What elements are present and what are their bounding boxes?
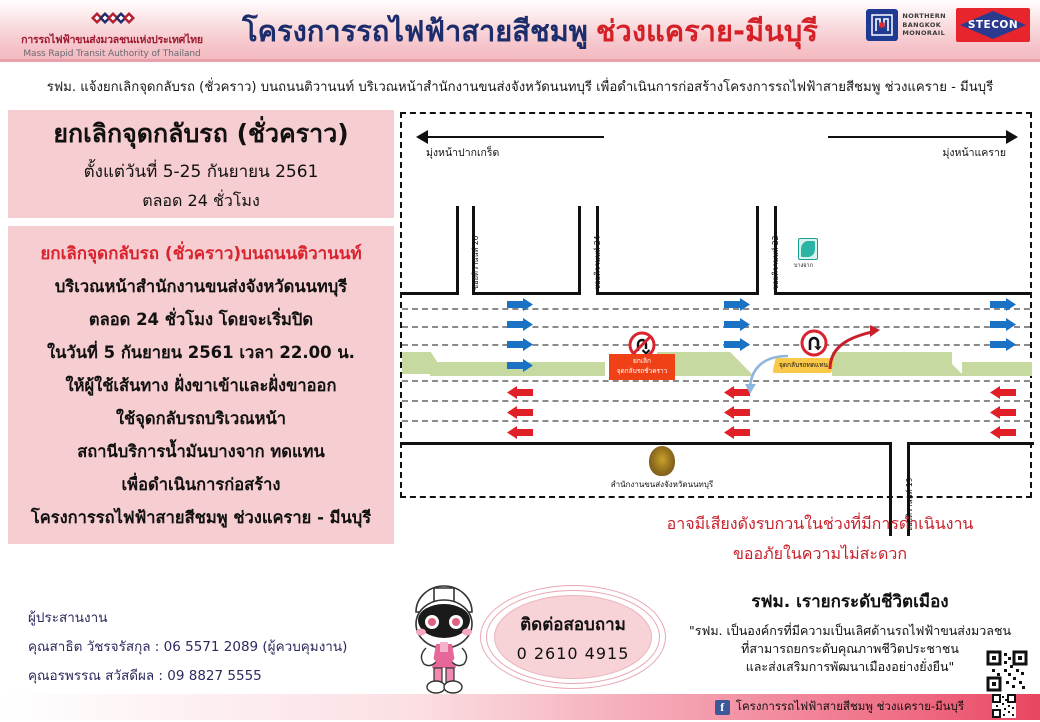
closure-detail-headline: ยกเลิกจุดกลับรถ (ชั่วคราว)บนถนนติวานนท์ [40,240,361,267]
traffic-arrow-westbound [990,384,1016,397]
page-title-highlight: ช่วงแคราย-มีนบุรี [596,8,818,54]
traffic-arrow-eastbound [507,336,533,349]
page-title-main: โครงการรถไฟฟ้าสายสีชมพู [242,8,588,54]
road-edge-top [472,292,580,295]
coordinators-block: ผู้ประสานงาน คุณสาธิต วัชรจรัสกุล : 06 5… [28,606,347,693]
direction-label-left: มุ่งหน้าปากเกร็ด [426,144,499,161]
announcement-subtitle: รฟม. แจ้งยกเลิกจุดกลับรถ (ชั่วคราว) บนถน… [0,65,1040,107]
soi-edge [756,206,759,295]
closure-detail-line: สถานีบริการน้ำมันบางจาก ทดแทน [77,439,325,465]
nbm-mark-icon [866,9,898,41]
direction-line-left [424,136,604,138]
partner-logos: NORTHERN BANGKOK MONORAIL STECON [866,8,1030,42]
footer-qr-code-icon[interactable] [992,694,1016,718]
slogan-line: และส่งเสริมการพัฒนาเมืองอย่างยั่งยืน" [660,658,1040,676]
transport-office-label: สำนักงานขนส่งจังหวัดนนทบุรี [582,478,742,491]
direction-label-right: มุ่งหน้าแคราย [942,144,1006,161]
closure-title-panel: ยกเลิกจุดกลับรถ (ชั่วคราว) ตั้งแต่วันที่… [8,110,394,218]
mrta-slogan-block: รฟม. เรายกระดับชีวิตเมือง "รฟม. เป็นองค์… [660,588,1040,676]
traffic-arrow-eastbound [507,357,533,370]
contact-phone[interactable]: 0 2610 4915 [480,644,666,663]
soi-label-26: ซอยติวานนท์ 26 [470,236,482,290]
cancelled-uturn-tag-line-1: ยกเลิก [613,357,671,367]
closure-detail-line: เพื่อดำเนินการก่อสร้าง [122,472,281,498]
lane-divider [402,420,1030,422]
soi-label-24: ซอยติวานนท์ 24 [592,236,604,290]
closure-detail-panel: ยกเลิกจุดกลับรถ (ชั่วคราว)บนถนนติวานนท์ … [8,226,394,544]
traffic-arrow-eastbound [990,316,1016,329]
stecon-logo: STECON [956,8,1030,42]
closure-title-line-2: ตั้งแต่วันที่ 5-25 กันยายน 2561 [84,158,319,185]
slogan-line: ที่สามารถยกระดับคุณภาพชีวิตประชาชน [660,640,1040,658]
cancelled-uturn-tag-line-2: จุดกลับรถชั่วคราว [613,367,671,377]
coordinators-heading: ผู้ประสานงาน [28,606,347,628]
page-title: โครงการรถไฟฟ้าสายสีชมพู ช่วงแคราย-มีนบุร… [215,0,845,62]
closure-detail-line: บริเวณหน้าสำนักงานขนส่งจังหวัดนนทบุรี [55,274,347,300]
mrta-logo-icon [85,6,139,30]
closure-title-line-3: ตลอด 24 ชั่วโมง [142,189,260,214]
soi-label-22: ซอยติวานนท์ 22 [770,236,782,290]
org-name-th: การรถไฟฟ้าขนส่งมวลชนแห่งประเทศไทย [14,31,210,48]
slogan-main: รฟม. เรายกระดับชีวิตเมือง [660,588,1040,615]
road-diagram: มุ่งหน้าปากเกร็ด มุ่งหน้าแคราย ซอยติวานน… [400,112,1032,498]
office-seal-icon [649,446,675,476]
traffic-arrow-westbound [724,404,750,417]
closure-detail-line: ตลอด 24 ชั่วโมง โดยจะเริ่มปิด [89,307,313,333]
road-edge-top [774,292,1032,295]
closure-detail-line: ใช้จุดกลับรถบริเวณหน้า [116,406,286,432]
stecon-wordmark: STECON [968,19,1018,31]
slogan-line: "รฟม. เป็นองค์กรที่มีความเป็นเลิศด้านรถไ… [660,622,1040,640]
soi-edge [578,206,581,295]
road-edge-top [402,292,458,295]
traffic-arrow-eastbound [990,336,1016,349]
traffic-arrow-eastbound [507,316,533,329]
closure-title-line-1: ยกเลิกจุดกลับรถ (ชั่วคราว) [53,114,348,154]
lane-divider [402,308,1030,310]
contact-label: ติดต่อสอบถาม [480,611,666,638]
coordinator-row: คุณอรพรรณ สวัสดีผล : 09 8827 5555 [28,664,347,686]
direction-arrowhead-left-icon [416,130,428,144]
road-edge-bottom [907,442,1034,445]
facebook-link[interactable]: f โครงการรถไฟฟ้าสายสีชมพู ช่วงแคราย-มีนบ… [715,698,964,716]
gas-station-caption: บางจาก [794,262,813,270]
closure-detail-line: ในวันที่ 5 กันยายน 2561 เวลา 22.00 น. [47,340,355,366]
facebook-icon[interactable]: f [715,700,730,715]
qr-code-icon[interactable] [986,650,1028,692]
page-header: การรถไฟฟ้าขนส่งมวลชนแห่งประเทศไทย Mass R… [0,0,1040,62]
nbm-line-2: BANGKOK [902,21,946,30]
traffic-arrow-eastbound [507,296,533,309]
northern-bangkok-monorail-logo: NORTHERN BANGKOK MONORAIL [866,9,946,41]
median-island [962,362,1032,376]
closure-detail-line: ให้ผู้ใช้เส้นทาง ฝั่งขาเข้าและฝั่งขาออก [66,373,337,399]
mascot-character [396,572,492,696]
soi-edge [456,206,459,295]
traffic-arrow-westbound [990,424,1016,437]
traffic-arrow-eastbound [990,296,1016,309]
closure-detail-line: โครงการรถไฟฟ้าสายสีชมพู ช่วงแคราย - มีนบ… [31,505,371,531]
traffic-arrow-westbound [507,384,533,397]
contact-callout[interactable]: ติดต่อสอบถาม 0 2610 4915 [480,585,666,689]
traffic-arrow-westbound [507,424,533,437]
direction-line-right [828,136,1008,138]
page-footer: f โครงการรถไฟฟ้าสายสีชมพู ช่วงแคราย-มีนบ… [0,694,1040,720]
notice-line-1: อาจมีเสียงดังรบกวนในช่วงที่มีการดำเนินงา… [600,512,1040,537]
nbm-wordmark: NORTHERN BANGKOK MONORAIL [902,12,946,38]
stecon-diamond-icon: STECON [960,11,1026,39]
merge-path-icon [742,352,794,396]
traffic-arrow-westbound [507,404,533,417]
road-edge-top [596,292,759,295]
mrta-logo-block: การรถไฟฟ้าขนส่งมวลชนแห่งประเทศไทย Mass R… [14,4,210,59]
lane-divider [402,326,1030,328]
lane-divider [402,400,1030,402]
announcement-subtitle-text: รฟม. แจ้งยกเลิกจุดกลับรถ (ชั่วคราว) บนถน… [47,76,993,97]
traffic-arrow-westbound [724,424,750,437]
org-name-en: Mass Rapid Transit Authority of Thailand [14,49,210,59]
lane-divider [402,344,1030,346]
direction-arrowhead-right-icon [1006,130,1018,144]
traffic-arrow-westbound [990,404,1016,417]
gas-station-icon [798,238,818,260]
notice-line-2: ขออภัยในความไม่สะดวก [600,542,1040,567]
facebook-page-name: โครงการรถไฟฟ้าสายสีชมพู ช่วงแคราย-มีนบุร… [736,698,964,716]
lane-divider [402,380,1030,382]
road-edge-bottom [402,442,892,445]
traffic-arrow-eastbound [724,316,750,329]
construction-notice: อาจมีเสียงดังรบกวนในช่วงที่มีการดำเนินงา… [600,512,1040,572]
transport-office-marker: สำนักงานขนส่งจังหวัดนนทบุรี [582,446,742,491]
replacement-uturn-path-icon [820,319,886,373]
cancelled-uturn-tag: ยกเลิก จุดกลับรถชั่วคราว [609,354,675,380]
traffic-arrow-eastbound [724,336,750,349]
nbm-line-1: NORTHERN [902,12,946,21]
nbm-line-3: MONORAIL [902,29,946,38]
coordinator-row: คุณสาธิต วัชรจรัสกุล : 06 5571 2089 (ผู้… [28,635,347,657]
traffic-arrow-eastbound [724,296,750,309]
